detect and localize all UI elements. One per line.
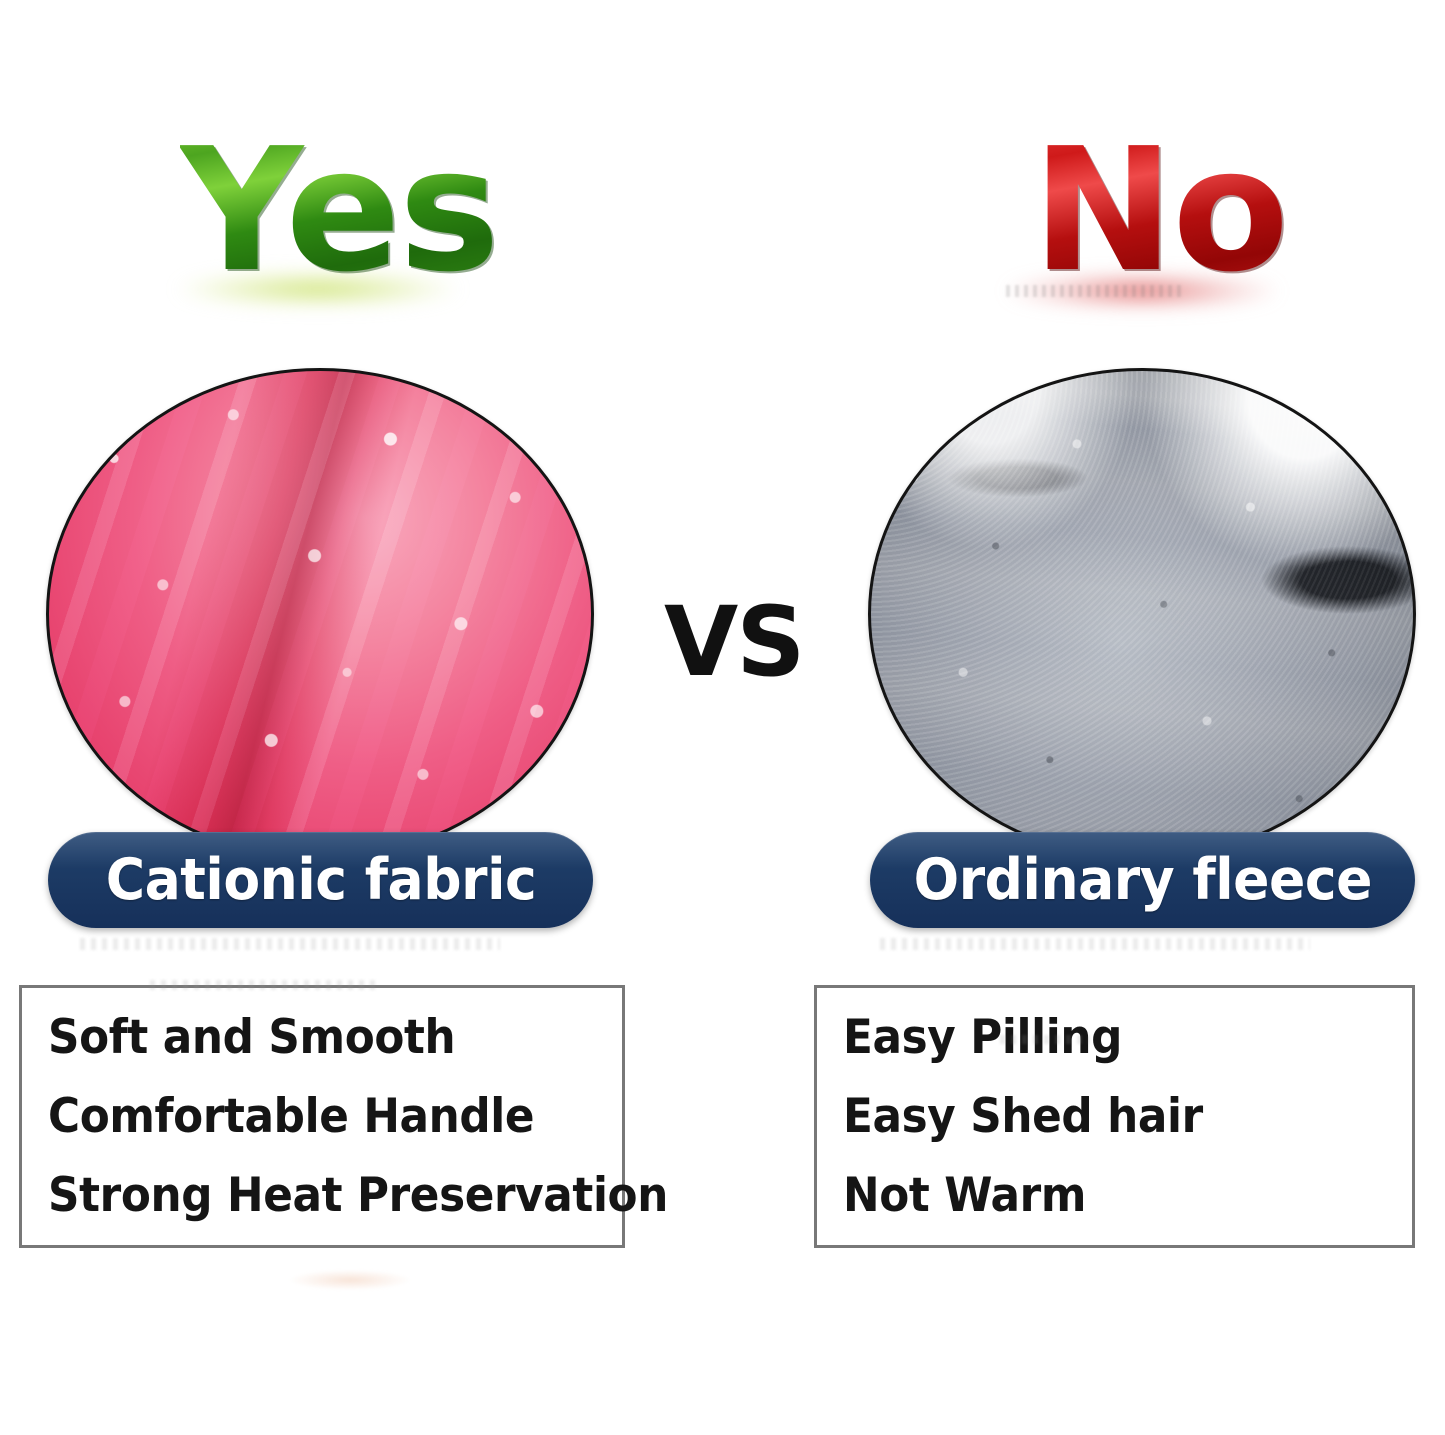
feature-item: Soft and Smooth: [48, 1014, 582, 1061]
ordinary-fleece-label-text: Ordinary fleece: [913, 847, 1371, 913]
comparison-panel-cationic: Cationic fabric: [38, 368, 598, 934]
cationic-fabric-label-text: Cationic fabric: [105, 847, 536, 913]
ordinary-fleece-label-pill: Ordinary fleece: [870, 832, 1415, 928]
feature-item: Easy Pilling: [843, 1014, 1372, 1061]
feature-list-fleece: Easy Pilling Easy Shed hair Not Warm: [814, 985, 1415, 1248]
watermark-smudge: [290, 1270, 410, 1290]
vs-divider-label: VS: [664, 594, 803, 690]
gray-ordinary-fleece-closeup-image: [868, 368, 1416, 860]
feature-list-cationic: Soft and Smooth Comfortable Handle Stron…: [19, 985, 625, 1248]
feature-item: Strong Heat Preservation: [48, 1172, 582, 1219]
feature-item: Comfortable Handle: [48, 1093, 582, 1140]
feature-item: Easy Shed hair: [843, 1093, 1372, 1140]
fabric-comparison-infographic: Yes No Cationic fabric Ordinary fleece V…: [0, 0, 1445, 1435]
watermark-smudge: [80, 938, 500, 950]
verdict-label-yes: Yes: [180, 126, 498, 296]
watermark-smudge: [880, 938, 1310, 950]
comparison-panel-fleece: Ordinary fleece: [860, 368, 1420, 934]
pink-cationic-fabric-closeup-image: [46, 368, 594, 860]
feature-item: Not Warm: [843, 1172, 1372, 1219]
verdict-label-no: No: [1032, 126, 1287, 296]
cationic-fabric-label-pill: Cationic fabric: [48, 832, 593, 928]
